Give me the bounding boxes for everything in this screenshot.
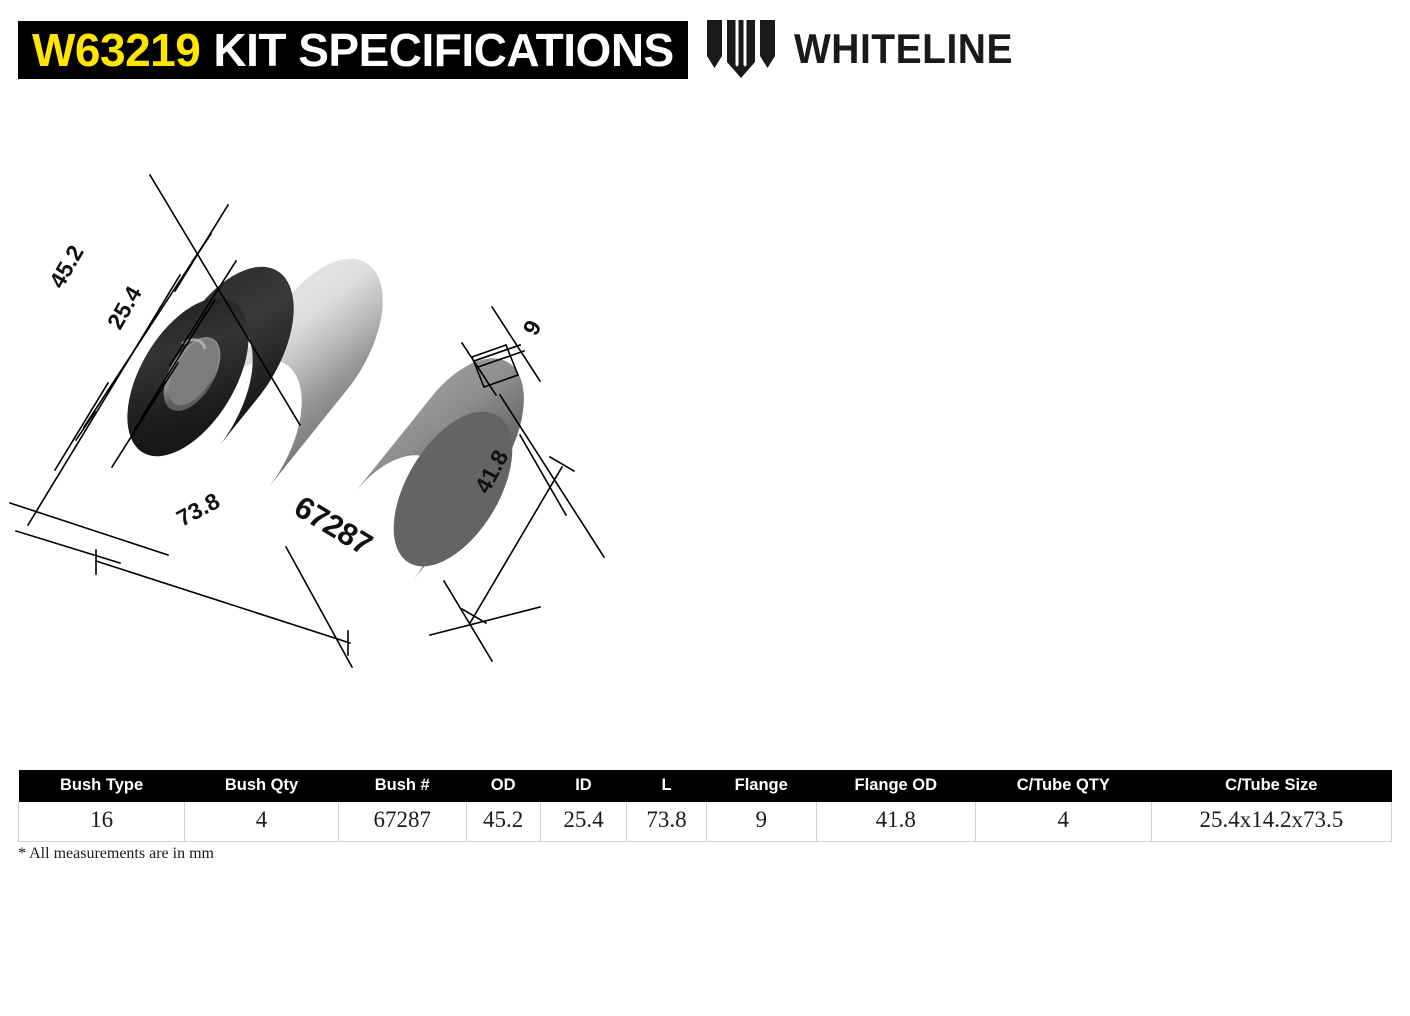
cell-bush-number: 67287 — [338, 802, 466, 842]
cell-ctube-size: 25.4x14.2x73.5 — [1151, 802, 1391, 842]
column-header-od: OD — [466, 770, 540, 802]
column-header-flange-od: Flange OD — [816, 770, 975, 802]
cell-flange: 9 — [706, 802, 816, 842]
dimension-label-length: 73.8 — [172, 487, 224, 531]
column-header-bush-qty: Bush Qty — [185, 770, 339, 802]
cell-id: 25.4 — [540, 802, 626, 842]
part-number-label: 67287 — [288, 489, 378, 562]
cell-bush-type: 16 — [19, 802, 185, 842]
column-header-bush-number: Bush # — [338, 770, 466, 802]
cell-ctube-qty: 4 — [975, 802, 1151, 842]
kit-specifications-table: Bush Type Bush Qty Bush # OD ID L Flange… — [18, 770, 1392, 842]
brand-name: WHITELINE — [794, 28, 1013, 70]
bushing-flange — [351, 358, 537, 586]
spec-table-container: Bush Type Bush Qty Bush # OD ID L Flange… — [18, 770, 1392, 842]
cell-flange-od: 41.8 — [816, 802, 975, 842]
column-header-id: ID — [540, 770, 626, 802]
cell-bush-qty: 4 — [185, 802, 339, 842]
whiteline-shield-icon — [705, 18, 777, 80]
measurement-units-footnote: * All measurements are in mm — [18, 845, 214, 863]
dimension-label-flange-thickness: 9 — [517, 316, 546, 340]
column-header-ctube-qty: C/Tube QTY — [975, 770, 1151, 802]
dimension-label-inner-diameter: 25.4 — [102, 282, 147, 334]
bushing-technical-drawing: 67287 — [0, 95, 760, 715]
cell-l: 73.8 — [627, 802, 707, 842]
table-row: 16 4 67287 45.2 25.4 73.8 9 41.8 4 25.4x… — [19, 802, 1392, 842]
title-banner: W63219 KIT SPECIFICATIONS — [18, 21, 688, 79]
dimension-label-outer-diameter: 45.2 — [44, 241, 89, 293]
page-title: KIT SPECIFICATIONS — [213, 27, 673, 73]
table-header-row: Bush Type Bush Qty Bush # OD ID L Flange… — [19, 770, 1392, 802]
bushing-body: 67287 — [102, 259, 536, 587]
column-header-l: L — [627, 770, 707, 802]
brand-logo: WHITELINE — [705, 18, 1013, 80]
kit-code: W63219 — [32, 27, 200, 73]
page-header: W63219 KIT SPECIFICATIONS WHITELINE — [0, 0, 1410, 100]
column-header-ctube-size: C/Tube Size — [1151, 770, 1391, 802]
column-header-bush-type: Bush Type — [19, 770, 185, 802]
column-header-flange: Flange — [706, 770, 816, 802]
cell-od: 45.2 — [466, 802, 540, 842]
